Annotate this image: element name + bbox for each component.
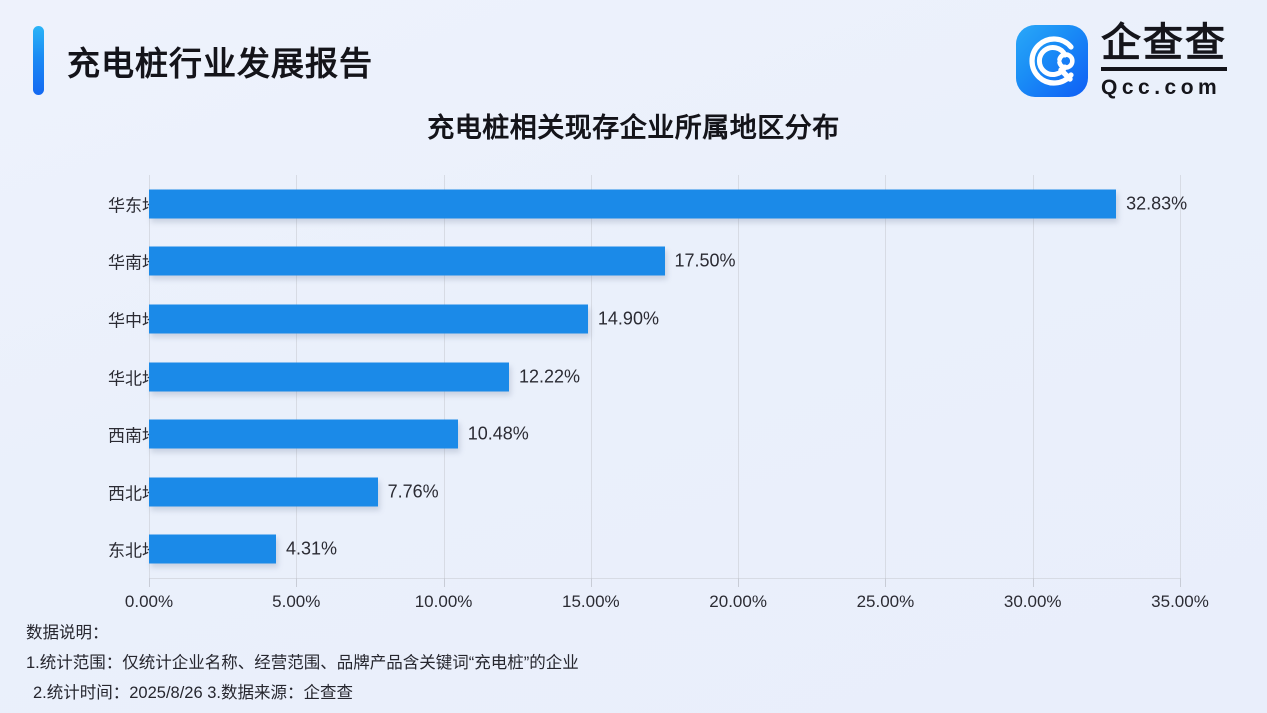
data-notes: 数据说明： 1.统计范围：仅统计企业名称、经营范围、品牌产品含关键词“充电桩”的… (26, 618, 1226, 708)
bar-chart: 0.00%5.00%10.00%15.00%20.00%25.00%30.00%… (0, 160, 1267, 615)
x-tick-label: 5.00% (272, 592, 320, 612)
accent-bar-icon (33, 26, 44, 95)
bar-value-label: 10.48% (468, 424, 529, 445)
x-tick-label: 30.00% (1004, 592, 1062, 612)
x-tick-label: 10.00% (415, 592, 473, 612)
bar-value-label: 7.76% (388, 481, 439, 502)
x-tick-mark (1033, 578, 1034, 587)
bar-value-label: 17.50% (675, 251, 736, 272)
x-tick-label: 15.00% (562, 592, 620, 612)
qcc-logo-icon (1016, 25, 1088, 97)
notes-heading: 数据说明： (26, 618, 1226, 648)
brand-name-en: Qcc.com (1101, 76, 1227, 100)
bar (149, 304, 588, 333)
bar (149, 189, 1116, 218)
notes-line-scope: 1.统计范围：仅统计企业名称、经营范围、品牌产品含关键词“充电桩”的企业 (26, 648, 1226, 678)
gridline (738, 175, 739, 578)
brand-name-cn: 企查查 (1101, 22, 1227, 64)
bar (149, 535, 276, 564)
x-tick-label: 35.00% (1151, 592, 1209, 612)
page-title: 充电桩行业发展报告 (67, 37, 373, 85)
bar-value-label: 32.83% (1126, 193, 1187, 214)
x-tick-label: 20.00% (709, 592, 767, 612)
x-tick-mark (885, 578, 886, 587)
page-header: 充电桩行业发展报告 企查查 Qcc.com (0, 0, 1267, 110)
brand-underline (1101, 67, 1227, 71)
bar (149, 247, 665, 276)
x-tick-mark (1180, 578, 1181, 587)
notes-line-source: 2.统计时间：2025/8/26 3.数据来源：企查查 (26, 678, 1226, 708)
gridline (1033, 175, 1034, 578)
brand-logo: 企查查 Qcc.com (1016, 22, 1227, 100)
x-tick-mark (738, 578, 739, 587)
bar-value-label: 12.22% (519, 366, 580, 387)
bar-value-label: 4.31% (286, 539, 337, 560)
gridline (885, 175, 886, 578)
bar (149, 362, 509, 391)
x-tick-mark (296, 578, 297, 587)
x-tick-mark (591, 578, 592, 587)
bar (149, 477, 378, 506)
report-title-group: 充电桩行业发展报告 (33, 26, 373, 95)
gridline (591, 175, 592, 578)
chart-title: 充电桩相关现存企业所属地区分布 (0, 106, 1267, 145)
gridline (1180, 175, 1181, 578)
x-tick-label: 25.00% (857, 592, 915, 612)
bar (149, 420, 458, 449)
brand-logo-text: 企查查 Qcc.com (1101, 22, 1227, 100)
x-tick-label: 0.00% (125, 592, 173, 612)
x-tick-mark (444, 578, 445, 587)
bar-value-label: 14.90% (598, 308, 659, 329)
x-tick-mark (149, 578, 150, 587)
x-axis-line (149, 578, 1180, 579)
